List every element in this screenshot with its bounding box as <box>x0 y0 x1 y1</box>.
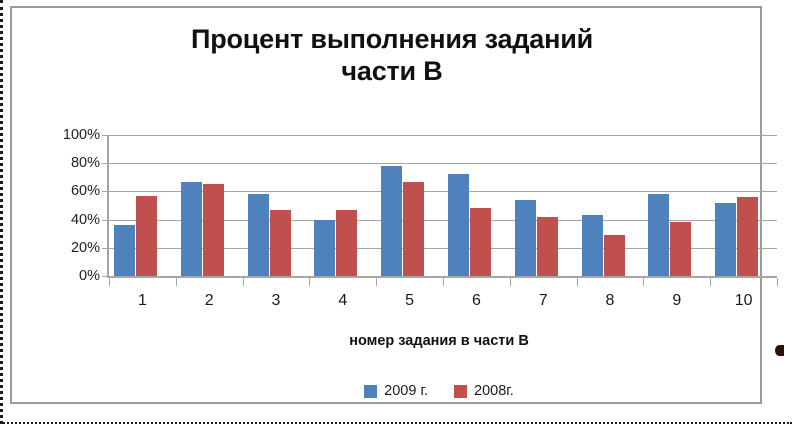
y-axis-tick <box>102 135 109 136</box>
x-axis-tick <box>577 278 578 286</box>
bar[interactable] <box>537 217 558 276</box>
bar[interactable] <box>448 174 469 276</box>
x-axis-tick-label: 9 <box>672 292 681 310</box>
x-axis-tick <box>176 278 177 286</box>
x-axis-tick-label: 1 <box>138 292 147 310</box>
y-axis-tick-label: 100% <box>63 127 100 143</box>
x-axis-tick <box>109 278 110 286</box>
bar[interactable] <box>136 196 157 276</box>
x-axis-tick <box>443 278 444 286</box>
bar[interactable] <box>515 200 536 276</box>
chart-title: Процент выполнения заданий части В <box>72 24 712 88</box>
x-axis-tick-label: 10 <box>735 292 753 310</box>
x-axis-tick <box>643 278 644 286</box>
bar-group <box>643 135 710 276</box>
x-axis-tick <box>777 278 778 286</box>
bar[interactable] <box>582 215 603 276</box>
legend-swatch-icon <box>454 385 467 398</box>
x-axis-tick <box>710 278 711 286</box>
x-axis-tick <box>510 278 511 286</box>
y-axis-tick <box>102 163 109 164</box>
legend-item[interactable]: 2009 г. <box>364 383 428 399</box>
bar[interactable] <box>648 194 669 276</box>
bar[interactable] <box>715 203 736 276</box>
bar-group <box>376 135 443 276</box>
bar-group <box>309 135 376 276</box>
y-axis-tick-label: 20% <box>71 240 100 256</box>
y-axis-tick-label: 40% <box>71 212 100 228</box>
plot-area: 0%20%40%60%80%100% 12345678910 <box>107 135 777 278</box>
bar[interactable] <box>270 210 291 276</box>
bar[interactable] <box>114 225 135 276</box>
bar-group <box>443 135 510 276</box>
x-axis-tick <box>309 278 310 286</box>
legend-label: 2008г. <box>474 383 514 399</box>
bar[interactable] <box>737 197 758 276</box>
x-axis-tick-label: 3 <box>272 292 281 310</box>
bar-group <box>577 135 644 276</box>
y-axis-tick <box>102 220 109 221</box>
bar-group <box>243 135 310 276</box>
y-axis-tick <box>102 276 109 277</box>
x-axis-tick-label: 7 <box>539 292 548 310</box>
x-axis-tick <box>376 278 377 286</box>
x-axis-tick-label: 2 <box>205 292 214 310</box>
resize-handle-right[interactable] <box>775 345 784 356</box>
y-axis-tick <box>102 248 109 249</box>
bar-group <box>710 135 777 276</box>
chart-title-line-1: Процент выполнения заданий <box>72 24 712 56</box>
bar[interactable] <box>336 210 357 276</box>
y-axis-tick-label: 0% <box>79 268 100 284</box>
bar[interactable] <box>403 182 424 276</box>
bar[interactable] <box>604 235 625 276</box>
plot-wrapper: 0%20%40%60%80%100% 12345678910 <box>97 125 781 285</box>
chart-title-line-2: части В <box>72 56 712 88</box>
bar-group <box>176 135 243 276</box>
bar[interactable] <box>470 208 491 276</box>
legend-swatch-icon <box>364 385 377 398</box>
x-axis-tick-label: 4 <box>338 292 347 310</box>
x-axis-title: номер задания в части В <box>97 333 781 349</box>
bar[interactable] <box>203 184 224 276</box>
chart-legend: 2009 г.2008г. <box>97 383 781 399</box>
x-axis-tick-label: 5 <box>405 292 414 310</box>
bar[interactable] <box>670 222 691 276</box>
bar[interactable] <box>381 166 402 276</box>
x-axis-tick-label: 8 <box>606 292 615 310</box>
x-axis-tick <box>243 278 244 286</box>
bar-group <box>109 135 176 276</box>
chart-object-frame[interactable]: Процент выполнения заданий части В 0%20%… <box>10 6 762 404</box>
y-axis-tick-label: 60% <box>71 183 100 199</box>
x-axis-tick-label: 6 <box>472 292 481 310</box>
y-axis-tick-label: 80% <box>71 155 100 171</box>
legend-label: 2009 г. <box>384 383 428 399</box>
bar-group <box>510 135 577 276</box>
legend-item[interactable]: 2008г. <box>454 383 514 399</box>
y-axis-tick <box>102 191 109 192</box>
bar[interactable] <box>248 194 269 276</box>
bar[interactable] <box>181 182 202 276</box>
bar[interactable] <box>314 220 335 276</box>
